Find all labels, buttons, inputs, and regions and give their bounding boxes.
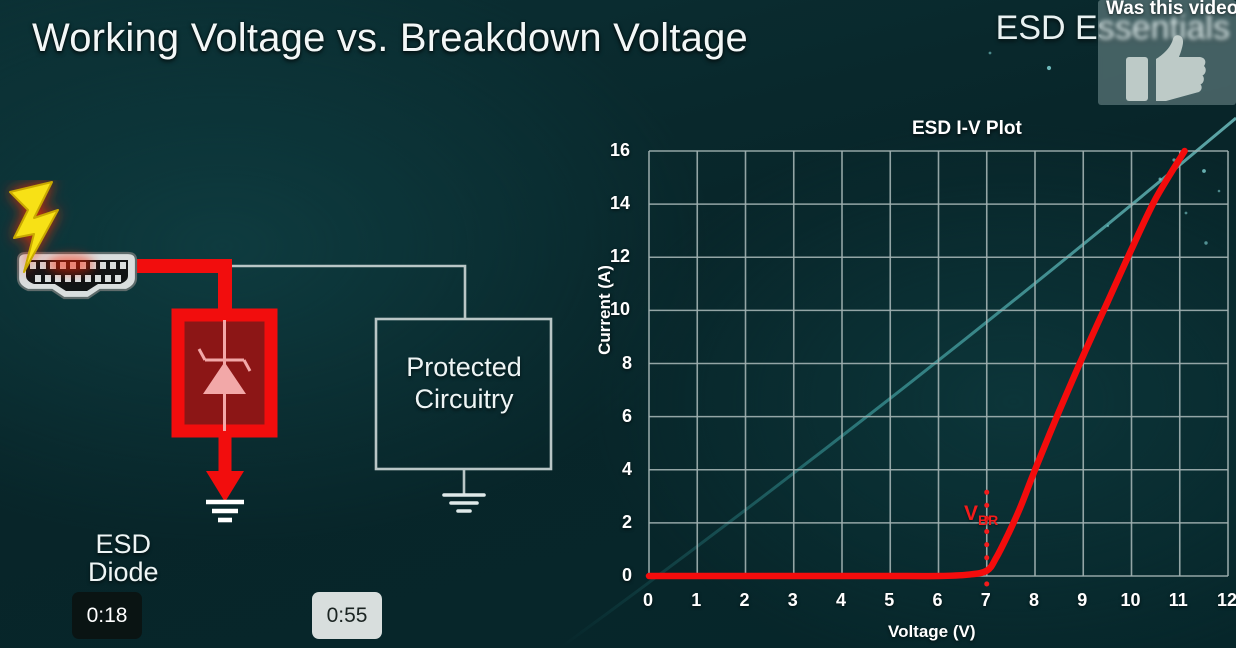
esd-diode-label: ESD Diode [88,530,159,587]
hdmi-connector [18,253,136,298]
x-tick-label: 4 [836,590,846,611]
vbr-sub-label: BR [978,512,998,528]
y-tick-label: 4 [622,459,632,480]
x-tick-label: 5 [884,590,894,611]
x-tick-label: 6 [933,590,943,611]
x-tick-label: 0 [643,590,653,611]
y-tick-label: 16 [610,140,630,161]
y-tick-label: 6 [622,406,632,427]
chart-title: ESD I-V Plot [912,118,1022,140]
x-tick-label: 1 [691,590,701,611]
esd-diode-block [178,315,271,520]
y-tick-label: 12 [610,246,630,267]
current-time-badge[interactable]: 0:18 [72,592,142,639]
x-tick-label: 3 [788,590,798,611]
ground-symbol [206,502,244,520]
x-tick-label: 2 [740,590,750,611]
esd-diode-label-line2: Diode [88,558,159,586]
total-time-badge[interactable]: 0:55 [312,592,382,639]
x-tick-label: 11 [1169,590,1188,611]
survey-question-text: Was this video [1106,0,1236,20]
page-title: Working Voltage vs. Breakdown Voltage [32,16,748,61]
thumbs-up-icon[interactable] [1126,33,1208,103]
y-tick-label: 2 [622,512,632,533]
esd-current-path [133,266,225,315]
y-tick-label: 14 [610,193,630,214]
x-axis-label: Voltage (V) [888,622,976,642]
x-tick-label: 9 [1077,590,1087,611]
x-tick-label: 8 [1029,590,1039,611]
y-tick-label: 0 [622,565,632,586]
x-tick-label: 7 [981,590,991,611]
ground-symbol [444,495,484,511]
y-tick-label: 8 [622,353,632,374]
breakdown-voltage-annotation: VBR [964,502,998,528]
protected-label-line1: Protected [378,352,550,384]
x-tick-label: 12 [1217,590,1236,611]
survey-overlay-card[interactable]: Was this video [1098,0,1236,105]
y-tick-label: 10 [610,299,630,320]
plot-area [580,110,1236,648]
x-tick-label: 10 [1121,590,1141,611]
esd-iv-chart: ESD I-V Plot Current (A) Voltage (V) VBR… [580,110,1236,648]
protected-circuitry-label: Protected Circuitry [378,352,550,416]
esd-diode-label-line1: ESD [88,530,159,558]
protected-label-line2: Circuitry [378,384,550,416]
vbr-main-label: V [964,502,978,525]
